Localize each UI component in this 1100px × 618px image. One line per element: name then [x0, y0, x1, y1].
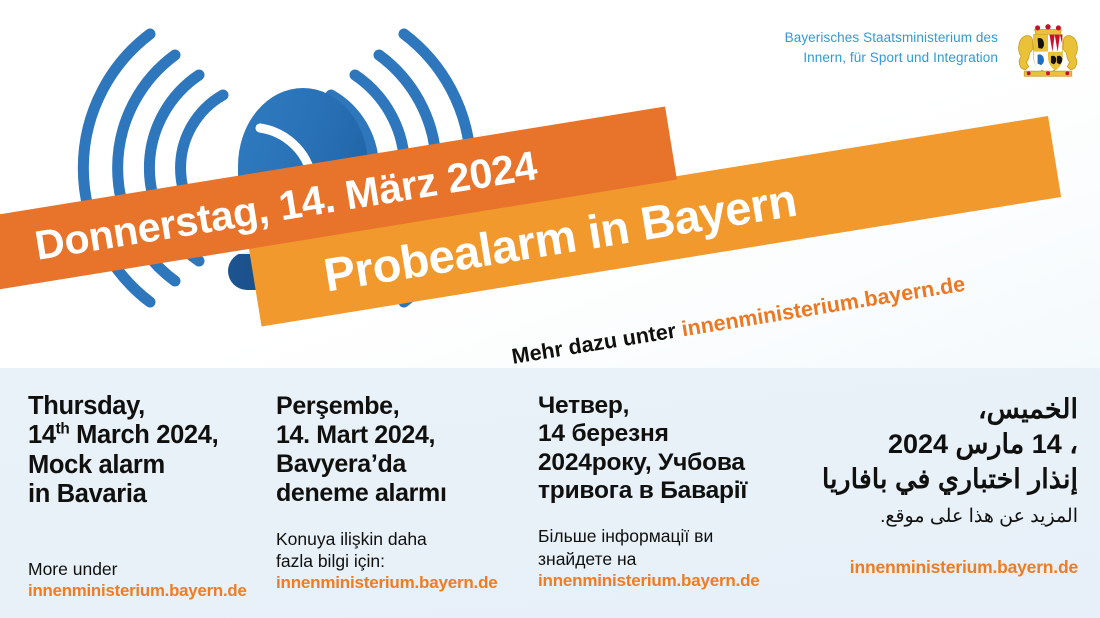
- arabic-heading-line-1: الخميس،: [798, 392, 1078, 427]
- arabic-heading-line-3: إنذار اختباري في بافاريا: [798, 462, 1078, 497]
- english-heading-line-3: Mock alarm: [28, 451, 262, 480]
- english-heading: Thursday, 14th March 2024, Mock alarm in…: [28, 392, 262, 510]
- english-subtext: More under innenministerium.bayern.de: [28, 558, 262, 602]
- turkish-subtext-line-2: fazla bilgi için:: [276, 550, 528, 572]
- poster-root: Bayerisches Staatsministerium des Innern…: [0, 0, 1100, 618]
- ukrainian-heading-line-2: 14 березня: [538, 420, 798, 448]
- turkish-heading-line-4: deneme alarmı: [276, 479, 528, 508]
- ukrainian-spacer: [538, 505, 798, 511]
- ukrainian-subtext-line-1: Більше інформації ви: [538, 525, 798, 547]
- english-subtext-line-1: More under: [28, 558, 262, 580]
- ukrainian-subtext: Більше інформації ви знайдете на innenmi…: [538, 525, 798, 592]
- english-heading-line-1: Thursday,: [28, 392, 262, 421]
- ukrainian-heading: Четвер, 14 березня 2024року, Учбова трив…: [538, 392, 798, 505]
- language-column-ukrainian: Четвер, 14 березня 2024року, Учбова трив…: [528, 392, 798, 618]
- ministry-line-1: Bayerisches Staatsministerium des: [785, 30, 998, 45]
- arabic-subtext: المزيد عن هذا على موقع.: [798, 505, 1078, 529]
- turkish-url[interactable]: innenministerium.bayern.de: [276, 572, 528, 594]
- turkish-subtext: Konuya ilişkin daha fazla bilgi için: in…: [276, 528, 528, 595]
- ukrainian-heading-line-4: тривога в Баварії: [538, 477, 798, 505]
- turkish-heading: Perşembe, 14. Mart 2024, Bavyera’da dene…: [276, 392, 528, 508]
- ukrainian-heading-line-3: 2024року, Учбова: [538, 449, 798, 477]
- english-day-number: 14: [28, 421, 56, 449]
- turkish-heading-line-3: Bavyera’da: [276, 450, 528, 479]
- bavaria-coat-of-arms-icon: [1010, 22, 1086, 80]
- english-day-suffix: th: [56, 421, 70, 438]
- ministry-line-2: Innern, für Sport und Integration: [785, 48, 998, 68]
- turkish-subtext-line-1: Konuya ilişkin daha: [276, 528, 528, 550]
- arabic-subtext-line-1: المزيد عن هذا على موقع.: [798, 505, 1078, 529]
- english-spacer: [28, 510, 262, 544]
- english-url[interactable]: innenministerium.bayern.de: [28, 580, 262, 602]
- language-column-arabic: الخميس، ، 14 مارس 2024 إنذار اختباري في …: [798, 392, 1100, 618]
- turkish-spacer: [276, 508, 528, 514]
- turkish-heading-line-1: Perşembe,: [276, 392, 528, 421]
- language-column-english: Thursday, 14th March 2024, Mock alarm in…: [0, 392, 262, 618]
- ukrainian-subtext-line-2: знайдете на: [538, 548, 798, 570]
- ministry-logo-block: Bayerisches Staatsministerium des Innern…: [785, 22, 1086, 80]
- arabic-heading-line-2: ، 14 مارس 2024: [798, 427, 1078, 462]
- ukrainian-heading-line-1: Четвер,: [538, 392, 798, 420]
- arabic-heading: الخميس، ، 14 مارس 2024 إنذار اختباري في …: [798, 392, 1078, 497]
- english-heading-line-2: 14th March 2024,: [28, 421, 262, 450]
- ministry-name: Bayerisches Staatsministerium des Innern…: [785, 22, 998, 67]
- english-month-year: March 2024,: [69, 421, 218, 449]
- arabic-url[interactable]: innenministerium.bayern.de: [798, 556, 1078, 578]
- language-column-turkish: Perşembe, 14. Mart 2024, Bavyera’da dene…: [262, 392, 528, 618]
- english-heading-line-4: in Bavaria: [28, 480, 262, 509]
- language-columns: Thursday, 14th March 2024, Mock alarm in…: [0, 392, 1100, 618]
- turkish-heading-line-2: 14. Mart 2024,: [276, 421, 528, 450]
- ukrainian-url[interactable]: innenministerium.bayern.de: [538, 570, 798, 592]
